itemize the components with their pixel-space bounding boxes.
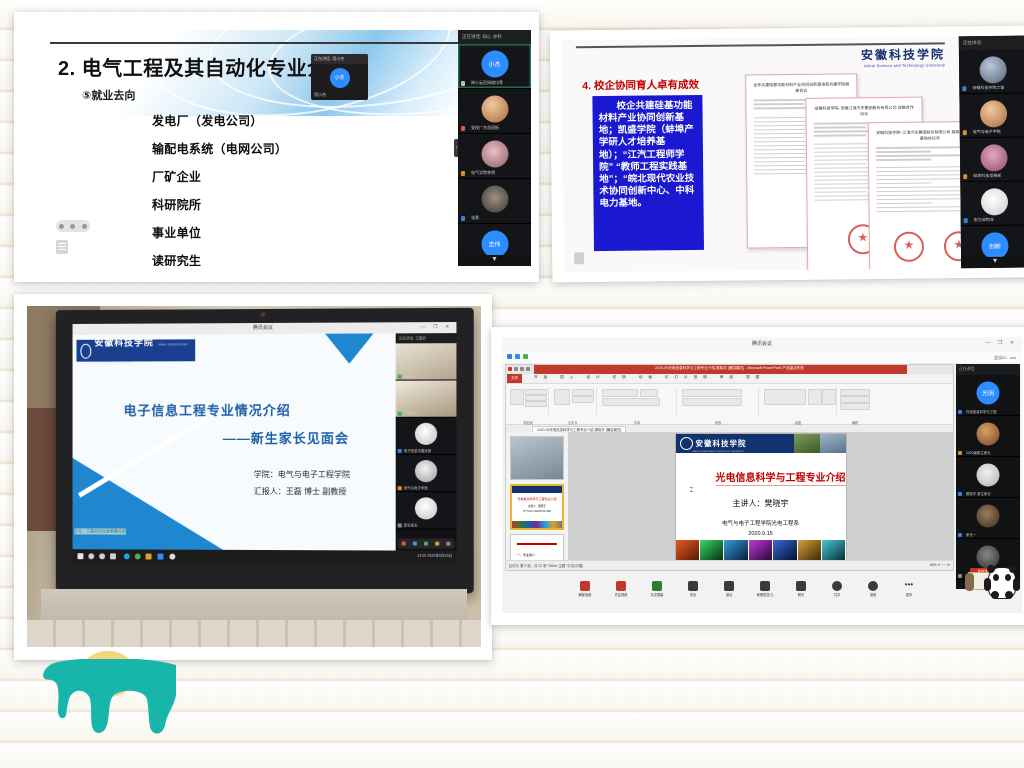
paste-button[interactable] <box>510 389 524 405</box>
mic-icon <box>958 533 962 537</box>
dock-button-members[interactable]: 管理成员(7) <box>754 581 776 597</box>
ribbon-tab-list[interactable]: 开始 插入 设计 切换 动画 幻灯片放映 审阅 视图 <box>534 375 765 380</box>
dock-button-mute[interactable]: 解除静音 <box>574 581 596 597</box>
rail-header: 正在讲话: <box>956 364 1020 375</box>
more-icon[interactable] <box>447 542 451 546</box>
campus-photos <box>794 434 846 453</box>
university-name-cn: 安徽科技学院 <box>95 338 154 348</box>
university-banner: 安徽科技学院 ANHUI SCIENCE AND TECHNOLOGY UNIV… <box>76 340 195 362</box>
mic-icon <box>398 523 402 527</box>
participant-name: 张勇 <box>461 215 531 221</box>
wechat-icon[interactable] <box>135 554 141 560</box>
participant-name: 樊晓宇 新生家长 <box>966 491 991 496</box>
participant-tile[interactable]: 王磊的 <box>396 344 457 381</box>
avatar: 小杰 <box>481 51 508 78</box>
document-title: 合作共建硅基功能材料产业协同创新基地和共建学院框架协议 <box>752 81 850 94</box>
find-button[interactable] <box>840 389 870 396</box>
participant-name: 电子信息未建设部 <box>404 449 431 454</box>
university-emblem-icon <box>80 344 91 359</box>
taskview-icon[interactable] <box>110 553 116 559</box>
photo-card-electrical-engineering-slide: 2. 电气工程及其自动化专业介绍 ⑤就业去向 发电厂（发电公司） 输配电系统（电… <box>14 12 539 282</box>
cortana-icon[interactable] <box>99 553 105 559</box>
participant-name: 新生家长 <box>404 523 418 528</box>
zoom-control[interactable]: 60% ⊖ ── ⊕ <box>930 563 950 567</box>
agreement-document: 安徽科技学院–江淮汽车集团股份有限公司 高级教师工程实践基地协议书 ★ ★ <box>868 121 962 272</box>
window-title: 腾讯会议 <box>253 324 273 331</box>
paint-drip-shape <box>36 659 196 741</box>
undo-icon <box>520 367 524 371</box>
screen-share-icon <box>652 581 662 591</box>
participant-tile[interactable]: 电气与电子学院 <box>959 94 1024 139</box>
slide-header-band: 安徽科技学院 ANHUI SCIENCE AND TECHNOLOGY UNIV… <box>676 434 846 453</box>
avatar <box>981 188 1008 215</box>
participant-rail-panel3[interactable]: 正在讲话: 王磊的 王磊的 二院老师 电子信息未建设部 <box>396 334 457 551</box>
slide-thumbnail[interactable]: 光电信息科学与工程专业介绍 主讲人：樊晓宇 电气与电子工程学院光电工程系 <box>510 484 564 530</box>
reaction-icon[interactable] <box>436 542 440 546</box>
slide-school-enterprise: 安徽科技学院 Anhui Science and Technology Univ… <box>562 36 961 272</box>
participant-rail-panel1[interactable]: › 正在讲话: 知心 亦铃 小杰 神小云民网络均等 党校广东花园街 电气学院李明 <box>458 30 531 266</box>
list-item: 读研究生 <box>152 252 287 266</box>
keyboard <box>27 620 481 647</box>
slide-college-line: 学院：电气与电子工程学院 <box>254 470 350 481</box>
ppt-app-icon <box>508 367 512 371</box>
participant-tile[interactable]: 电子信息未建设部 <box>396 418 457 455</box>
people-icon <box>760 581 770 591</box>
photo-strip <box>676 540 846 560</box>
avatar <box>481 96 508 123</box>
share-notice: 正在：王磊的的共享屏幕共享 <box>74 529 125 535</box>
participant-name: 电气学院李明 <box>461 170 531 176</box>
list-buttons[interactable] <box>682 389 742 397</box>
participant-tile[interactable]: 安徽科技学院之窗 <box>959 50 1024 95</box>
ppt-ribbon[interactable]: 剪贴板 幻灯片 字体 段落 <box>506 384 953 425</box>
participant-name: 电气与电子学院 <box>963 128 1024 135</box>
windows-taskbar[interactable]: 14:20 2020年9月15日 <box>72 549 456 565</box>
participant-tile[interactable]: 樊晓宇 新生家长 <box>956 457 1020 498</box>
participant-name: 2020级新生家长 <box>966 450 991 455</box>
app-title: 腾讯会议 <box>752 340 772 347</box>
dock-button-share[interactable]: 共享屏幕 <box>646 581 668 597</box>
avatar <box>980 100 1007 127</box>
font-size-select[interactable] <box>640 389 658 397</box>
chat-icon <box>796 581 806 591</box>
slide-editing-stage[interactable]: 安徽科技学院 ANHUI SCIENCE AND TECHNOLOGY UNIV… <box>568 432 953 561</box>
participant-tile[interactable]: 张为谈物流 <box>960 182 1024 227</box>
slide-subtitle: ⑤就业去向 <box>82 87 135 103</box>
ppt-status-bar: 幻灯片 第 2 张，共 22 张 "Office 主题" 中文(中国) 60% … <box>506 560 953 570</box>
participant-name: 家长一 <box>966 532 976 537</box>
quick-access-toolbar[interactable] <box>508 367 530 371</box>
participant-rail-panel2[interactable]: 正在讲话: 安徽科技学院之窗 电气与电子学院 蚌埠科技发展部 张为谈物流 <box>959 36 1024 269</box>
avatar <box>415 460 437 482</box>
align-buttons[interactable] <box>682 398 742 406</box>
dock-button-sharing[interactable]: 共享 <box>826 581 848 597</box>
university-name-en: Anhui Science and Technology University <box>861 62 945 68</box>
title-rule <box>50 42 458 44</box>
mic-icon <box>398 486 402 490</box>
window-controls[interactable]: — ❐ ✕ <box>421 325 453 331</box>
avatar <box>977 463 1000 486</box>
avatar <box>977 422 1000 445</box>
panel4-screenshot: 腾讯会议 — ❐ ✕ 会议ID：xxx 2020-09光电信息科学与工程专业介绍 <box>502 337 1022 613</box>
camera-off-icon <box>616 581 626 591</box>
participant-name: 王磊的 <box>404 374 414 379</box>
participant-tile[interactable]: 蚌埠科技发展部 <box>960 138 1024 183</box>
avatar <box>481 186 508 213</box>
slide-electrical-engineering: 2. 电气工程及其自动化专业介绍 ⑤就业去向 发电厂（发电公司） 输配电系统（电… <box>28 30 458 266</box>
university-logo: 安徽科技学院 Anhui Science and Technology Univ… <box>861 45 945 68</box>
university-name-cn: 安徽科技学院 <box>861 45 945 63</box>
meeting-id: 会议ID：xxx <box>994 355 1016 361</box>
slide-thumbnail[interactable] <box>510 436 564 480</box>
search-icon[interactable] <box>88 553 94 559</box>
list-item: 输配电系统（电网公司） <box>152 140 287 157</box>
participant-tile[interactable]: 光明 光电信息科学与工程 <box>956 375 1020 416</box>
mic-icon <box>398 375 402 379</box>
university-name-cn: 安徽科技学院 <box>696 439 747 448</box>
participant-name: 蚌埠科技发展部 <box>963 172 1024 179</box>
rail-header: 正在讲话: <box>959 36 1024 51</box>
document-title: 安徽科技学院–江淮汽车集团股份有限公司 高级教师工程实践基地协议书 <box>875 129 961 142</box>
redo-icon <box>526 367 530 371</box>
slide-control-pill[interactable] <box>56 220 90 232</box>
panel2-screenshot: 安徽科技学院 Anhui Science and Technology Univ… <box>562 36 1024 273</box>
chevron-down-icon[interactable]: ▼ <box>458 255 531 266</box>
shapes-gallery[interactable] <box>764 389 806 405</box>
avatar: 小杰 <box>330 68 350 88</box>
sticker-person <box>965 573 974 591</box>
new-slide-button[interactable] <box>554 389 570 405</box>
taskbar-clock: 14:20 2020年9月15日 <box>417 554 452 559</box>
more-icon: ••• <box>904 581 914 591</box>
text-cursor-icon: ⌶ <box>690 488 694 495</box>
avatar: 光明 <box>977 381 1000 404</box>
slide-title: 电子信息工程专业情况介绍 <box>124 400 291 419</box>
slide-presenter: 主讲人：樊晓宇 <box>676 498 846 509</box>
quick-styles-button[interactable] <box>822 389 836 405</box>
self-view-name: 用小杰 <box>314 92 326 98</box>
participant-tile[interactable]: 电气学院李明 <box>458 134 531 179</box>
list-item: 科研院所 <box>152 196 287 213</box>
participant-name: 安徽科技学院之窗 <box>962 84 1024 91</box>
avatar <box>481 141 508 168</box>
ppt-ribbon-tabs[interactable]: 文件 开始 插入 设计 切换 动画 幻灯片放映 审阅 视图 <box>506 374 953 384</box>
app-icon[interactable] <box>169 554 175 560</box>
participant-name: 张为谈物流 <box>964 216 1024 223</box>
avatar <box>415 498 437 520</box>
participant-tile[interactable]: 二院老师 <box>396 381 457 418</box>
participant-tile[interactable]: 电气与电子学院 <box>396 456 457 493</box>
notes-icon[interactable] <box>574 252 584 264</box>
mic-icon <box>958 410 962 414</box>
slide-subtitle: ——新生家长见面会 <box>223 428 349 447</box>
photo-card-school-enterprise-slide: 安徽科技学院 Anhui Science and Technology Univ… <box>550 25 1024 282</box>
active-slide[interactable]: 安徽科技学院 ANHUI SCIENCE AND TECHNOLOGY UNIV… <box>675 433 847 561</box>
university-emblem-icon <box>680 437 693 450</box>
app-subbar: 会议ID：xxx <box>502 352 1022 363</box>
record-icon <box>868 581 878 591</box>
mic-icon <box>398 412 402 416</box>
signal-icon <box>523 354 528 359</box>
slide-heading: 4. 校企协同育人卓有成效 <box>582 77 699 93</box>
teal-paint-splash-decoration <box>36 651 196 741</box>
notes-icon[interactable] <box>56 240 68 254</box>
avatar: 创新 <box>981 232 1008 259</box>
dock-button-more[interactable]: ••• 更多 <box>898 581 920 597</box>
edge-icon[interactable] <box>124 554 130 560</box>
slide-presenter-line: 汇报人：王磊 博士 副教授 <box>254 487 347 498</box>
panda-body <box>988 567 1016 599</box>
explorer-icon[interactable] <box>146 554 152 560</box>
file-tab[interactable]: 文件 <box>507 374 522 383</box>
panda-sticker: BAHE <box>960 559 1020 601</box>
slide-date: 2020.9.15 <box>676 531 846 537</box>
laptop-screen: 腾讯会议 — ❐ ✕ 安徽科技学院 ANHUI SCIENCE AND TECH… <box>72 323 456 565</box>
replace-button[interactable] <box>840 396 870 403</box>
ppt-workspace: 光电信息科学与工程专业介绍 主讲人：樊晓宇 电气与电子工程学院光电工程系 一、专… <box>506 432 953 561</box>
powerpoint-window: 2020-09光电信息科学与工程专业介绍-樊晓宇 [兼容模式] - Micros… <box>505 364 954 571</box>
ppt-titlebar: 2020-09光电信息科学与工程专业介绍-樊晓宇 [兼容模式] - Micros… <box>506 365 953 374</box>
dock-button-chat[interactable]: 聊天 <box>790 581 812 597</box>
chevron-decoration <box>325 334 373 364</box>
layout-button[interactable] <box>572 389 594 396</box>
avatar <box>977 504 1000 527</box>
slide-title: 2. 电气工程及其自动化专业介绍 <box>58 52 348 81</box>
red-seal-stamp: ★ <box>894 232 924 262</box>
dock-button-security[interactable]: 安全 <box>682 581 704 597</box>
dock-button-video[interactable]: 开启视频 <box>610 581 632 597</box>
self-view-tile[interactable]: 正在讲话: 用小杰 小杰 用小杰 <box>311 54 368 100</box>
meeting-control-dock[interactable]: 解除静音 开启视频 共享屏幕 安全 邀请 管理成员(7) <box>542 581 952 601</box>
share-icon[interactable] <box>424 542 428 546</box>
self-view-header: 正在讲话: 用小杰 <box>311 54 368 64</box>
font-name-select[interactable] <box>602 389 638 397</box>
participant-name: 电气与电子学院 <box>404 486 428 491</box>
reset-button[interactable] <box>572 396 594 403</box>
shared-slide-electronic-info: 安徽科技学院 ANHUI SCIENCE AND TECHNOLOGY UNIV… <box>72 334 395 551</box>
list-item: 厂矿企业 <box>152 168 287 185</box>
chevron-down-icon[interactable]: ▼ <box>961 257 1024 269</box>
share-circle-icon <box>832 581 842 591</box>
slide-bullet-list: 发电厂（发电公司） 输配电系统（电网公司） 厂矿企业 科研院所 事业单位 读研究… <box>152 112 287 266</box>
mic-icon <box>958 492 962 496</box>
photo-card-laptop-meeting: 腾讯会议 — ❐ ✕ 安徽科技学院 ANHUI SCIENCE AND TECH… <box>14 294 492 660</box>
avatar: 志伟 <box>481 231 508 258</box>
info-icon <box>515 354 520 359</box>
invite-icon <box>724 581 734 591</box>
font-style-buttons[interactable] <box>602 398 660 406</box>
participant-tile[interactable]: 家长一 <box>956 498 1020 539</box>
webcam <box>261 312 266 317</box>
mic-off-icon <box>580 581 590 591</box>
panel3-photo: 腾讯会议 — ❐ ✕ 安徽科技学院 ANHUI SCIENCE AND TECH… <box>27 306 481 647</box>
avatar <box>979 56 1006 83</box>
participant-name: 党校广东花园街 <box>461 125 531 131</box>
video-icon[interactable] <box>413 542 417 546</box>
avatar <box>415 423 437 445</box>
panel1-screenshot: 2. 电气工程及其自动化专业介绍 ⑤就业去向 发电厂（发电公司） 输配电系统（电… <box>28 30 531 266</box>
participant-name: 二院老师 <box>404 411 418 416</box>
laptop-device: 腾讯会议 — ❐ ✕ 安徽科技学院 ANHUI SCIENCE AND TECH… <box>56 308 474 593</box>
shield-icon <box>507 354 512 359</box>
start-icon[interactable] <box>77 553 83 559</box>
mic-icon <box>398 449 402 453</box>
list-item: 发电厂（发电公司） <box>152 112 287 129</box>
app-titlebar: 腾讯会议 — ❐ ✕ <box>502 337 1022 353</box>
rail-header: 正在讲话: 知心 亦铃 <box>458 30 531 44</box>
participant-name: 光电信息科学与工程 <box>966 409 997 414</box>
triangle-decoration <box>72 458 223 550</box>
save-icon <box>514 367 518 371</box>
red-seal-stamp: ★ <box>944 231 961 261</box>
mute-icon[interactable] <box>402 542 406 546</box>
status-icons <box>507 354 528 359</box>
list-item: 事业单位 <box>152 224 287 241</box>
participant-rail-panel4[interactable]: 正在讲话: 光明 光电信息科学与工程 2020级新生家长 樊晓宇 新生家长 家长… <box>956 364 1020 589</box>
slide-thumbnail-pane[interactable]: 光电信息科学与工程专业介绍 主讲人：樊晓宇 电气与电子工程学院光电工程系 一、专… <box>506 432 569 561</box>
dock-button-record[interactable]: 录制 <box>862 581 884 597</box>
slide-title: 光电信息科学与工程专业介绍 <box>716 469 846 486</box>
meeting-icon[interactable] <box>157 554 163 560</box>
mic-icon <box>958 451 962 455</box>
select-button[interactable] <box>840 403 870 410</box>
participant-tile[interactable]: 小杰 神小云民网络均等 <box>458 44 531 89</box>
participant-tile[interactable]: 新生家长 <box>396 493 457 530</box>
participant-tile[interactable]: 党校广东花园街 <box>458 89 531 134</box>
document-title: 安徽科技学院–安徽江淮汽车集团股份有限公司 战略合作协议 <box>812 105 915 118</box>
arrange-button[interactable] <box>808 389 822 405</box>
participant-tile[interactable]: 2020级新生家长 <box>956 416 1020 457</box>
ppt-document-title: 2020-09光电信息科学与工程专业介绍-樊晓宇 [兼容模式] - Micros… <box>655 366 804 371</box>
meeting-toolbar[interactable] <box>398 539 455 549</box>
format-painter-button[interactable] <box>525 401 547 407</box>
status-left: 幻灯片 第 2 张，共 22 张 "Office 主题" 中文(中国) <box>509 563 583 568</box>
slide-department: 电气与电子工程学院光电工程系 <box>676 519 846 527</box>
dock-button-invite[interactable]: 邀请 <box>718 581 740 597</box>
participant-tile[interactable]: 张勇 <box>458 179 531 224</box>
window-controls[interactable]: — ❐ ✕ <box>986 340 1017 346</box>
shield-icon <box>688 581 698 591</box>
participant-name: 神小云民网络均等 <box>461 80 531 86</box>
slide-blue-textbox: 校企共建硅基功能材料产业协同创新基地；凯盛学院（蚌埠产学研人才培养基地）；“江汽… <box>592 95 704 251</box>
photo-card-tencent-meeting-powerpoint: 腾讯会议 — ❐ ✕ 会议ID：xxx 2020-09光电信息科学与工程专业介绍 <box>491 327 1024 625</box>
avatar <box>980 144 1007 171</box>
